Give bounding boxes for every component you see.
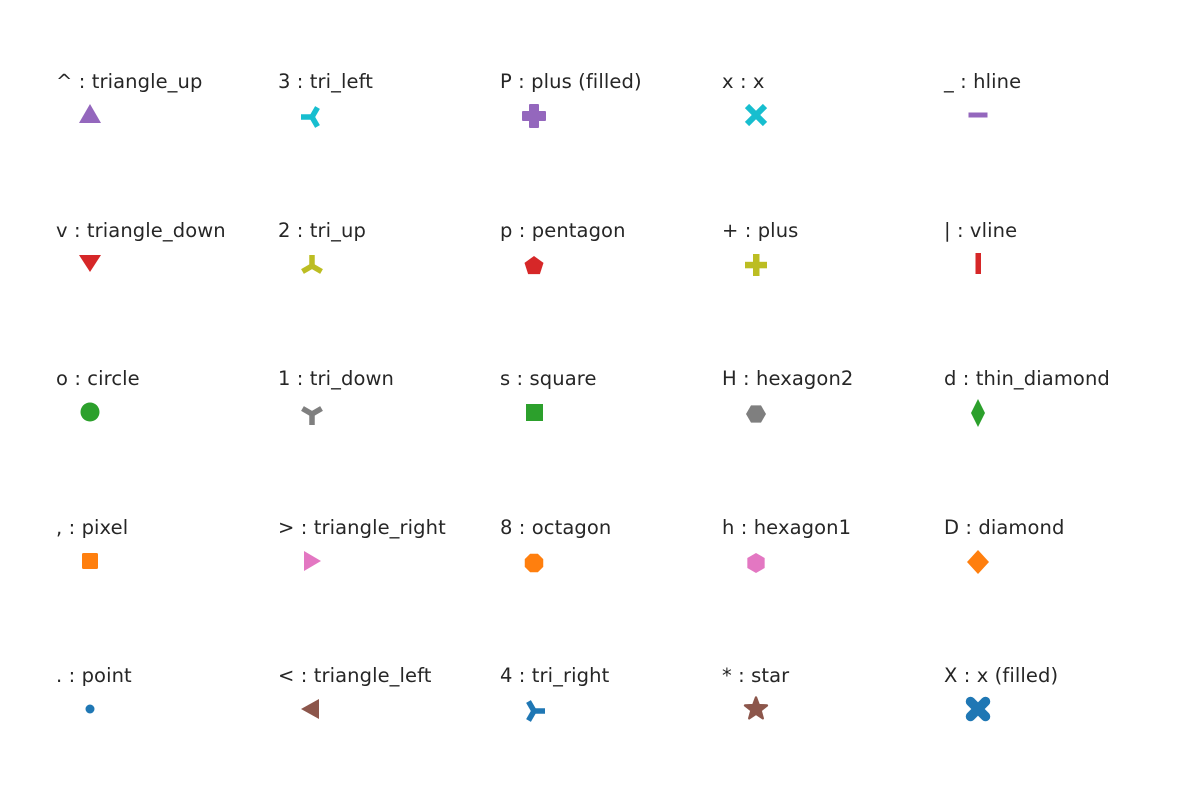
x-thin-icon (736, 97, 776, 137)
thin-diamond-icon (958, 394, 998, 434)
plus-filled-icon (514, 97, 554, 137)
marker-label: v : triangle_down (56, 221, 226, 241)
diamond-icon (958, 543, 998, 583)
octagon-icon (514, 543, 554, 583)
marker-label: . : point (56, 666, 132, 686)
marker-label: + : plus (722, 221, 798, 241)
triangle-left-icon (292, 691, 332, 731)
marker-label: x : x (722, 72, 765, 92)
marker-label: | : vline (944, 221, 1017, 241)
marker-label: * : star (722, 666, 789, 686)
marker-label: X : x (filled) (944, 666, 1058, 686)
marker-label: h : hexagon1 (722, 518, 851, 538)
x-filled-icon (958, 691, 998, 731)
triangle-down-icon (70, 246, 110, 286)
hexagon1-icon (736, 543, 776, 583)
tri-up-icon (292, 246, 332, 286)
pixel-icon (70, 543, 110, 583)
marker-label: o : circle (56, 369, 140, 389)
marker-label: p : pentagon (500, 221, 626, 241)
marker-label: H : hexagon2 (722, 369, 853, 389)
marker-label: 1 : tri_down (278, 369, 394, 389)
marker-label: D : diamond (944, 518, 1065, 538)
marker-label: ^ : triangle_up (56, 72, 202, 92)
hexagon2-icon (736, 394, 776, 434)
marker-label: , : pixel (56, 518, 128, 538)
plus-thin-icon (736, 246, 776, 286)
square-icon (514, 394, 554, 434)
tri-right-icon (514, 691, 554, 731)
marker-label: < : triangle_left (278, 666, 432, 686)
marker-label: 8 : octagon (500, 518, 611, 538)
marker-label: P : plus (filled) (500, 72, 642, 92)
marker-label: _ : hline (944, 72, 1021, 92)
marker-label: d : thin_diamond (944, 369, 1110, 389)
marker-label: s : square (500, 369, 597, 389)
tri-down-icon (292, 394, 332, 434)
marker-label: > : triangle_right (278, 518, 446, 538)
vline-icon (958, 246, 998, 286)
marker-label: 3 : tri_left (278, 72, 373, 92)
point-icon (70, 691, 110, 731)
marker-label: 2 : tri_up (278, 221, 366, 241)
marker-label: 4 : tri_right (500, 666, 609, 686)
triangle-up-icon (70, 97, 110, 137)
hline-icon (958, 97, 998, 137)
marker-reference-grid: ^ : triangle_up3 : tri_leftP : plus (fil… (0, 0, 1200, 800)
tri-left-icon (292, 97, 332, 137)
star-icon (736, 691, 776, 731)
triangle-right-icon (292, 543, 332, 583)
circle-icon (70, 394, 110, 434)
pentagon-icon (514, 246, 554, 286)
